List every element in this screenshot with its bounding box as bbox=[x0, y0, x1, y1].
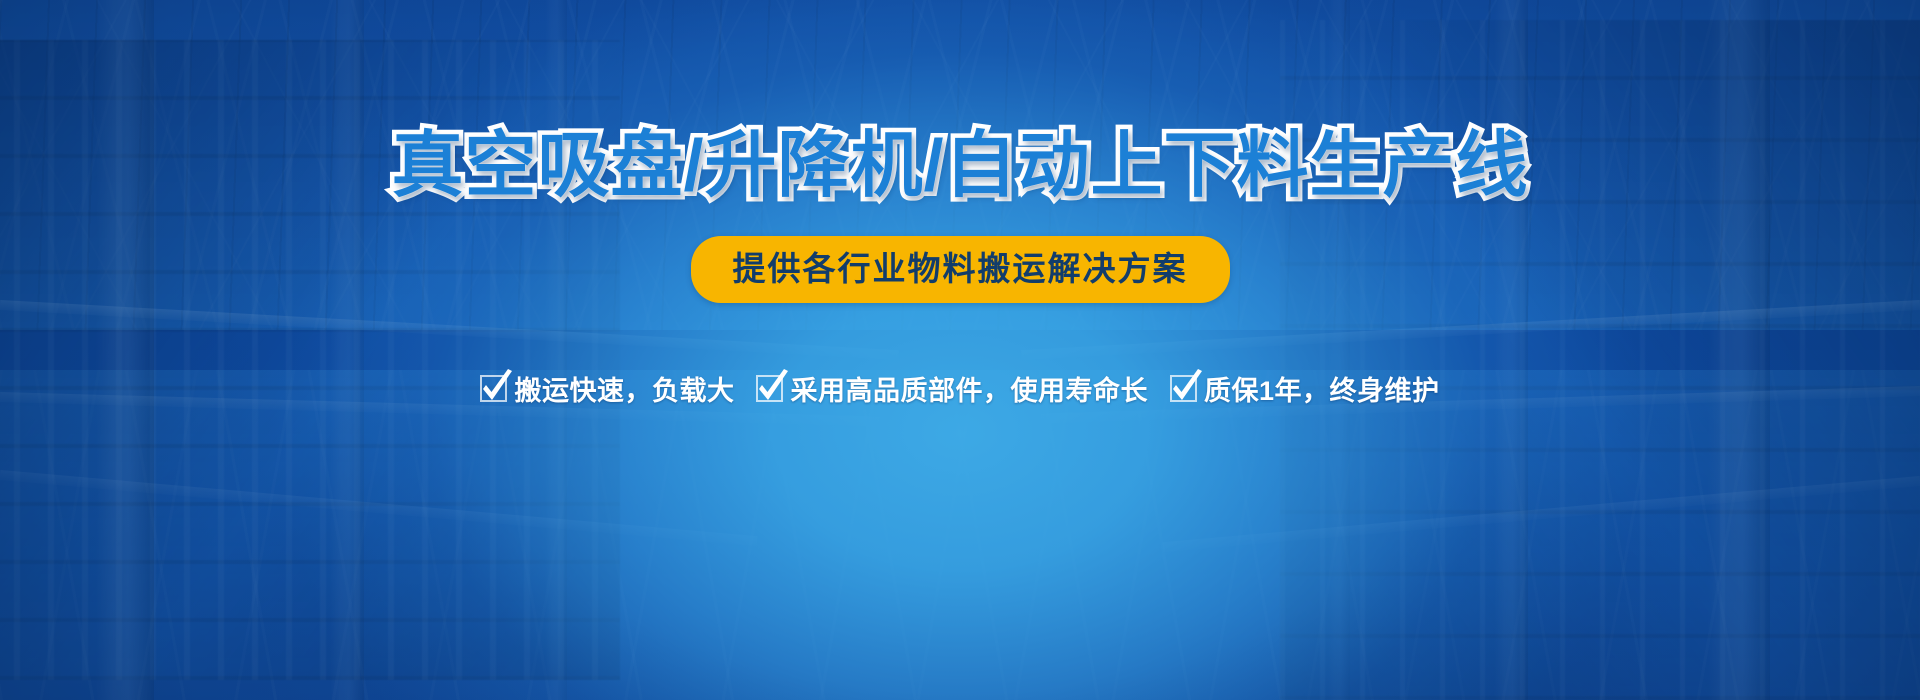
feature-label: 采用高品质部件，使用寿命长 bbox=[790, 369, 1148, 408]
check-box-icon bbox=[480, 375, 507, 402]
feature-item: 搬运快速，负载大 bbox=[480, 369, 734, 408]
banner-headline: 真空吸盘/升降机/自动上下料生产线 bbox=[391, 130, 1528, 202]
feature-label: 质保1年，终身维护 bbox=[1204, 369, 1440, 408]
banner-subtitle-pill: 提供各行业物料搬运解决方案 bbox=[691, 236, 1230, 303]
check-box-icon bbox=[756, 375, 783, 402]
feature-list: 搬运快速，负载大 采用高品质部件，使用寿命长 质保1年，终身维护 bbox=[480, 369, 1439, 408]
feature-item: 采用高品质部件，使用寿命长 bbox=[756, 369, 1148, 408]
feature-label: 搬运快速，负载大 bbox=[514, 369, 734, 408]
hero-banner: 真空吸盘/升降机/自动上下料生产线 提供各行业物料搬运解决方案 搬运快速，负载大… bbox=[0, 0, 1920, 700]
check-box-icon bbox=[1170, 375, 1197, 402]
feature-item: 质保1年，终身维护 bbox=[1170, 369, 1440, 408]
banner-content: 真空吸盘/升降机/自动上下料生产线 提供各行业物料搬运解决方案 搬运快速，负载大… bbox=[0, 0, 1920, 700]
